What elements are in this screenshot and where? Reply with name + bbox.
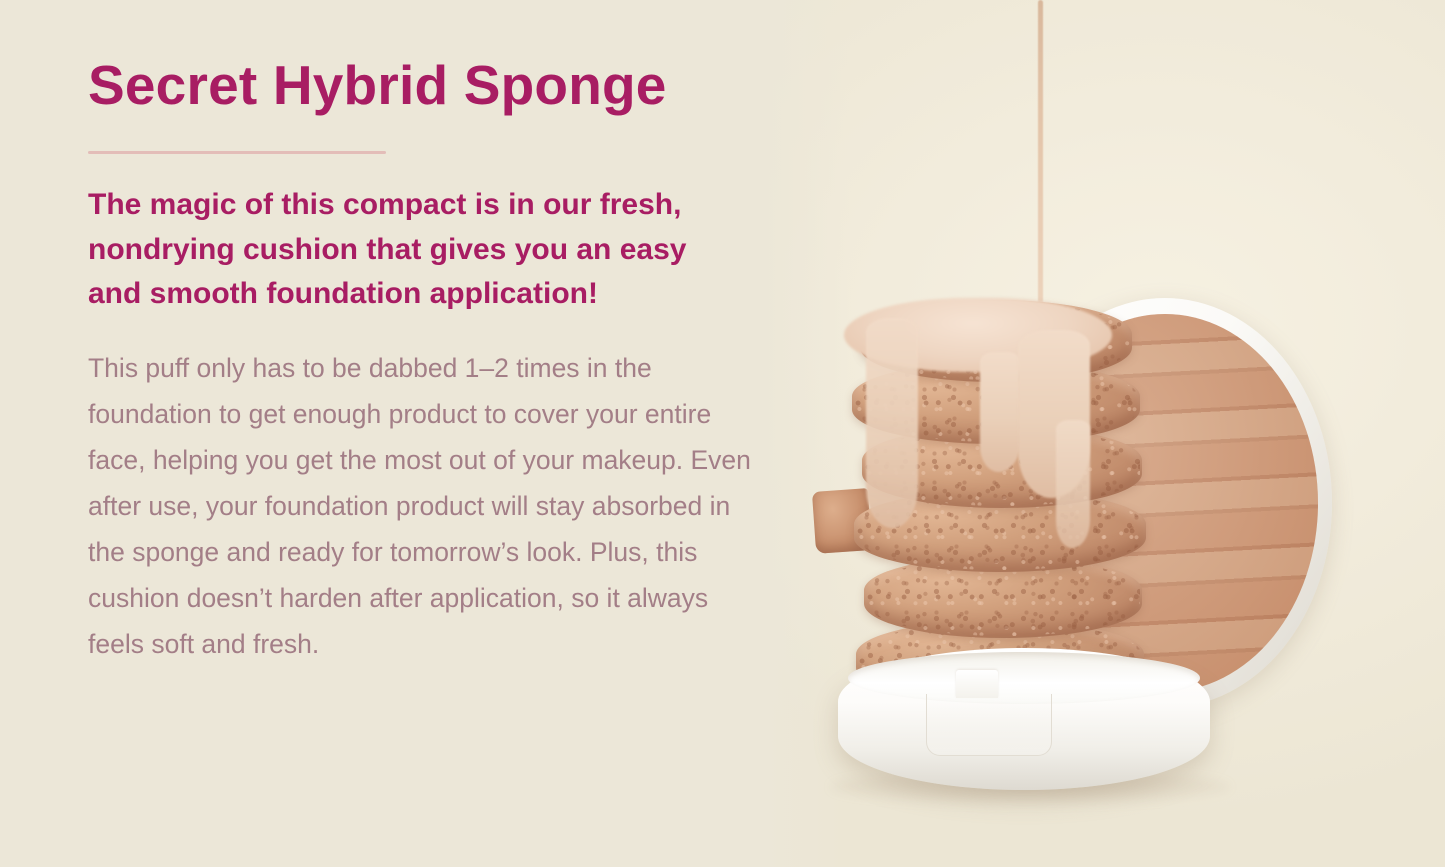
foundation-drip [866,318,918,528]
foundation-drip [980,352,1020,472]
text-column: Secret Hybrid Sponge The magic of this c… [88,56,768,667]
subheadline: The magic of this compact is in our fres… [88,183,738,316]
product-photo [830,0,1390,867]
foundation-pour-stream [1038,0,1043,318]
divider [88,151,386,154]
foundation-drip [1056,420,1090,548]
compact-base [838,648,1210,790]
product-feature-banner: Secret Hybrid Sponge The magic of this c… [0,0,1445,867]
body-paragraph: This puff only has to be dabbed 1–2 time… [88,345,758,668]
page-title: Secret Hybrid Sponge [88,56,768,115]
compact-latch-outline [926,694,1052,756]
